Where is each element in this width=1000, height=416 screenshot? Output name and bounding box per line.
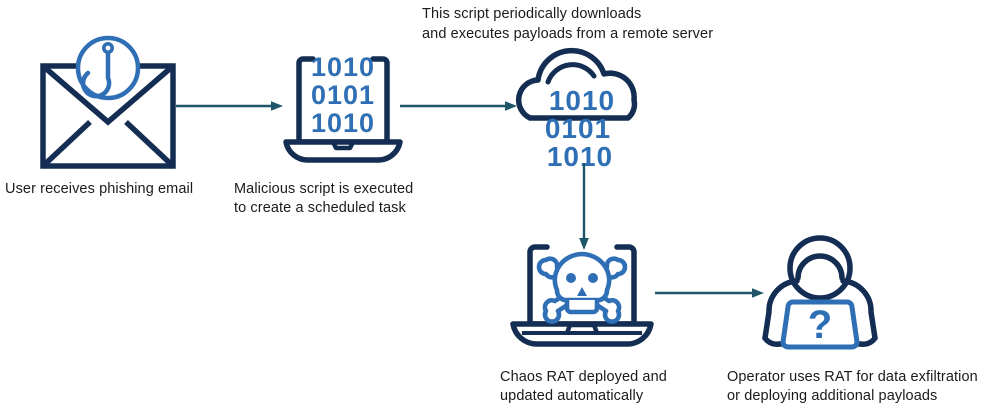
connector-script-to-cloud [400,96,518,116]
caption-operator: Operator uses RAT for data exfiltration … [727,368,1000,406]
caption-phishing-email: User receives phishing email [5,180,220,199]
cloud-binary-row-1: 1010 [549,85,615,116]
node-malicious-script: 1010 0101 1010 [281,50,405,162]
operator-screen-glyph: ? [808,303,832,347]
cloud-binary-row-2: 0101 [545,113,611,144]
caption-malicious-script: Malicious script is executed to create a… [234,180,464,218]
laptop-skull-crossbones-icon [505,238,659,348]
binary-row-3: 1010 [311,108,375,138]
laptop-binary-icon: 1010 0101 1010 [281,50,405,162]
binary-row-2: 0101 [311,80,375,110]
hooded-operator-laptop-question-icon: ? [753,232,887,348]
node-chaos-rat [505,238,659,348]
attack-chain-diagram: This script periodically downloads and e… [0,0,1000,416]
node-operator: ? [753,232,887,348]
binary-row-1: 1010 [311,52,375,82]
envelope-fishhook-icon [38,44,178,172]
caption-chaos-rat: Chaos RAT deployed and updated automatic… [500,368,710,406]
connector-rat-to-operator [655,283,765,303]
cloud-binary-icon: 1010 0101 1010 [508,52,652,170]
node-remote-server: 1010 0101 1010 [508,52,652,170]
connector-email-to-script [176,96,284,116]
node-phishing-email [38,44,178,172]
annotation-remote-server-note: This script periodically downloads and e… [422,4,762,44]
